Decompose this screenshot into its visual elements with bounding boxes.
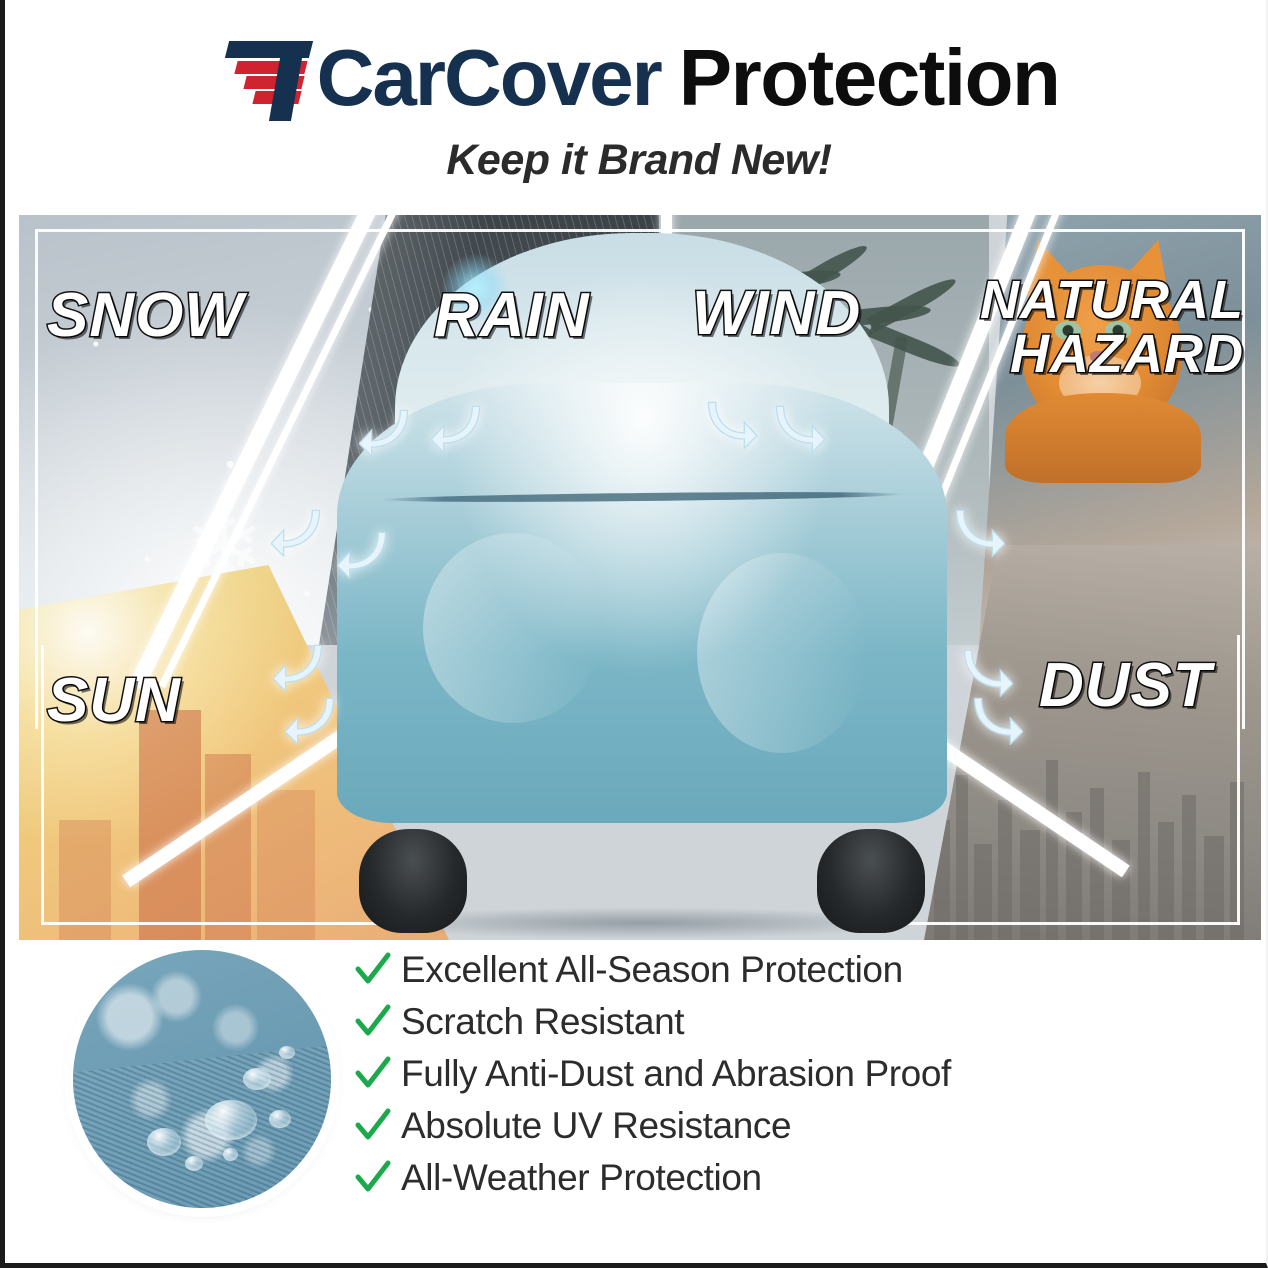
check-icon <box>353 1002 401 1042</box>
deflect-arrow-icon <box>969 693 1023 745</box>
label-snow: SNOW <box>47 285 244 347</box>
check-icon <box>353 1158 401 1198</box>
feature-label: Absolute UV Resistance <box>401 1105 791 1147</box>
deflect-arrow-icon <box>271 505 325 557</box>
water-droplet <box>243 1068 271 1090</box>
panel-rail <box>1237 635 1240 925</box>
panel-rail <box>35 229 38 729</box>
panel-rail <box>35 229 1245 232</box>
list-item: Fully Anti-Dust and Abrasion Proof <box>353 1048 1183 1100</box>
deflect-arrow-icon <box>431 401 485 453</box>
list-item: Absolute UV Resistance <box>353 1100 1183 1152</box>
feature-label: All-Weather Protection <box>401 1157 762 1199</box>
icarcover-wing-logo-icon <box>219 37 315 119</box>
benefit-collage: ❄ <box>19 215 1261 940</box>
water-droplet <box>205 1100 257 1140</box>
feature-list: Excellent All-Season Protection Scratch … <box>353 944 1183 1204</box>
deflect-arrow-icon <box>703 397 757 449</box>
features-section: Excellent All-Season Protection Scratch … <box>5 940 1268 1260</box>
list-item: Excellent All-Season Protection <box>353 944 1183 996</box>
brand-name-black: Protection <box>679 38 1060 118</box>
water-droplet <box>147 1128 181 1156</box>
deflect-arrow-icon <box>285 693 339 745</box>
water-droplet <box>269 1110 291 1128</box>
header: CarCover Protection Keep it Brand New! <box>5 0 1268 200</box>
label-rain: RAIN <box>434 285 590 347</box>
list-item: All-Weather Protection <box>353 1152 1183 1204</box>
deflect-arrow-icon <box>959 645 1013 697</box>
building <box>257 790 315 940</box>
deflect-arrow-icon <box>273 640 327 692</box>
label-natural-hazard: NATURAL HAZARD <box>954 273 1244 381</box>
building <box>139 710 201 940</box>
deflect-arrow-icon <box>771 401 825 453</box>
list-item: Scratch Resistant <box>353 996 1183 1048</box>
deflect-arrow-icon <box>359 405 413 457</box>
deflect-arrow-icon <box>951 505 1005 557</box>
brand-lockup: CarCover Protection <box>5 30 1268 126</box>
tagline: Keep it Brand New! <box>5 136 1268 185</box>
feature-label: Scratch Resistant <box>401 1001 684 1043</box>
check-icon <box>353 950 401 990</box>
ad-frame: CarCover Protection Keep it Brand New! ❄ <box>0 0 1268 1268</box>
label-sun: SUN <box>47 670 181 732</box>
brand-name-blue: CarCover <box>317 38 661 118</box>
feature-label: Excellent All-Season Protection <box>401 949 903 991</box>
water-droplet <box>223 1148 238 1161</box>
label-wind: WIND <box>692 283 861 345</box>
deflect-arrow-icon <box>337 527 391 579</box>
panel-rail <box>899 922 1240 925</box>
wheel <box>817 829 925 933</box>
water-beading-fabric-swatch-icon <box>73 950 331 1208</box>
feature-label: Fully Anti-Dust and Abrasion Proof <box>401 1053 951 1095</box>
water-droplet <box>279 1046 295 1059</box>
check-icon <box>353 1054 401 1094</box>
label-dust: DUST <box>1039 655 1212 717</box>
check-icon <box>353 1106 401 1146</box>
water-droplet <box>185 1156 203 1171</box>
building <box>205 754 251 940</box>
wheel <box>359 829 467 933</box>
panel-rail <box>41 645 44 925</box>
